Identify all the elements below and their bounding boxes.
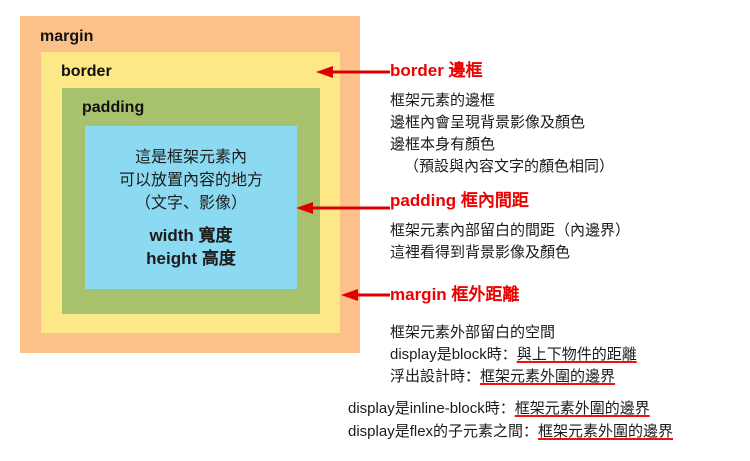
margin-block-underlined: 與上下物件的距離 bbox=[517, 346, 637, 363]
border-annotation-line-3: 邊框本身有顏色 bbox=[390, 134, 614, 156]
margin-box-label: margin bbox=[40, 29, 93, 45]
border-annotation-line-2: 邊框內會呈現背景影像及顏色 bbox=[390, 112, 614, 134]
content-width-label: width 寬度 bbox=[149, 225, 232, 248]
content-height-label: height 高度 bbox=[146, 248, 236, 271]
margin-annotation-line-2: display是block時：與上下物件的距離 bbox=[390, 344, 637, 366]
border-annotation-line-1: 框架元素的邊框 bbox=[390, 90, 614, 112]
margin-inline-block-note: display是inline-block時：框架元素外圍的邊界 bbox=[348, 398, 673, 421]
margin-annotation-title: margin 框外距離 bbox=[390, 286, 637, 303]
border-pointer-arrow-icon bbox=[316, 65, 390, 79]
margin-pointer-arrow-icon bbox=[341, 288, 390, 302]
border-annotation: border 邊框 框架元素的邊框 邊框內會呈現背景影像及顏色 邊框本身有顏色 … bbox=[390, 62, 614, 178]
border-annotation-title: border 邊框 bbox=[390, 62, 614, 79]
border-annotation-body: 框架元素的邊框 邊框內會呈現背景影像及顏色 邊框本身有顏色 （預設與內容文字的顏… bbox=[390, 90, 614, 178]
padding-annotation-line-2: 這裡看得到背景影像及顏色 bbox=[390, 242, 630, 264]
margin-inline-block-prefix: display是inline-block時： bbox=[348, 400, 515, 417]
css-box-model-diagram: margin border padding 這是框架元素內 可以放置內容的地方 … bbox=[20, 16, 360, 353]
padding-annotation-body: 框架元素內部留白的間距（內邊界） 這裡看得到背景影像及顏色 bbox=[390, 220, 630, 264]
margin-flex-prefix: display是flex的子元素之間： bbox=[348, 423, 538, 440]
border-annotation-line-4: （預設與內容文字的顏色相同） bbox=[390, 156, 614, 178]
content-text-line-3: （文字、影像） bbox=[135, 192, 247, 215]
content-text-line-1: 這是框架元素內 bbox=[135, 146, 247, 169]
margin-flex-underlined: 框架元素外圍的邊界 bbox=[538, 423, 673, 440]
border-box-label: border bbox=[61, 64, 112, 80]
margin-extra-notes: display是inline-block時：框架元素外圍的邊界 display是… bbox=[348, 398, 673, 443]
margin-block-prefix: display是block時： bbox=[390, 346, 517, 363]
margin-annotation-body: 框架元素外部留白的空間 display是block時：與上下物件的距離 浮出設計… bbox=[390, 322, 637, 388]
padding-box-label: padding bbox=[82, 100, 144, 116]
margin-float-underlined: 框架元素外圍的邊界 bbox=[480, 368, 615, 385]
margin-float-prefix: 浮出設計時： bbox=[390, 368, 480, 385]
padding-pointer-arrow-icon bbox=[296, 201, 390, 215]
margin-annotation-line-1: 框架元素外部留白的空間 bbox=[390, 322, 637, 344]
margin-inline-block-underlined: 框架元素外圍的邊界 bbox=[515, 400, 650, 417]
margin-annotation: margin 框外距離 框架元素外部留白的空間 display是block時：與… bbox=[390, 286, 637, 388]
padding-annotation: padding 框內間距 框架元素內部留白的間距（內邊界） 這裡看得到背景影像及… bbox=[390, 192, 630, 264]
margin-annotation-line-3: 浮出設計時：框架元素外圍的邊界 bbox=[390, 366, 637, 388]
padding-annotation-line-1: 框架元素內部留白的間距（內邊界） bbox=[390, 220, 630, 242]
content-box: 這是框架元素內 可以放置內容的地方 （文字、影像） width 寬度 heigh… bbox=[85, 126, 297, 289]
padding-annotation-title: padding 框內間距 bbox=[390, 192, 630, 209]
content-text-line-2: 可以放置內容的地方 bbox=[119, 169, 263, 192]
margin-flex-note: display是flex的子元素之間：框架元素外圍的邊界 bbox=[348, 421, 673, 444]
